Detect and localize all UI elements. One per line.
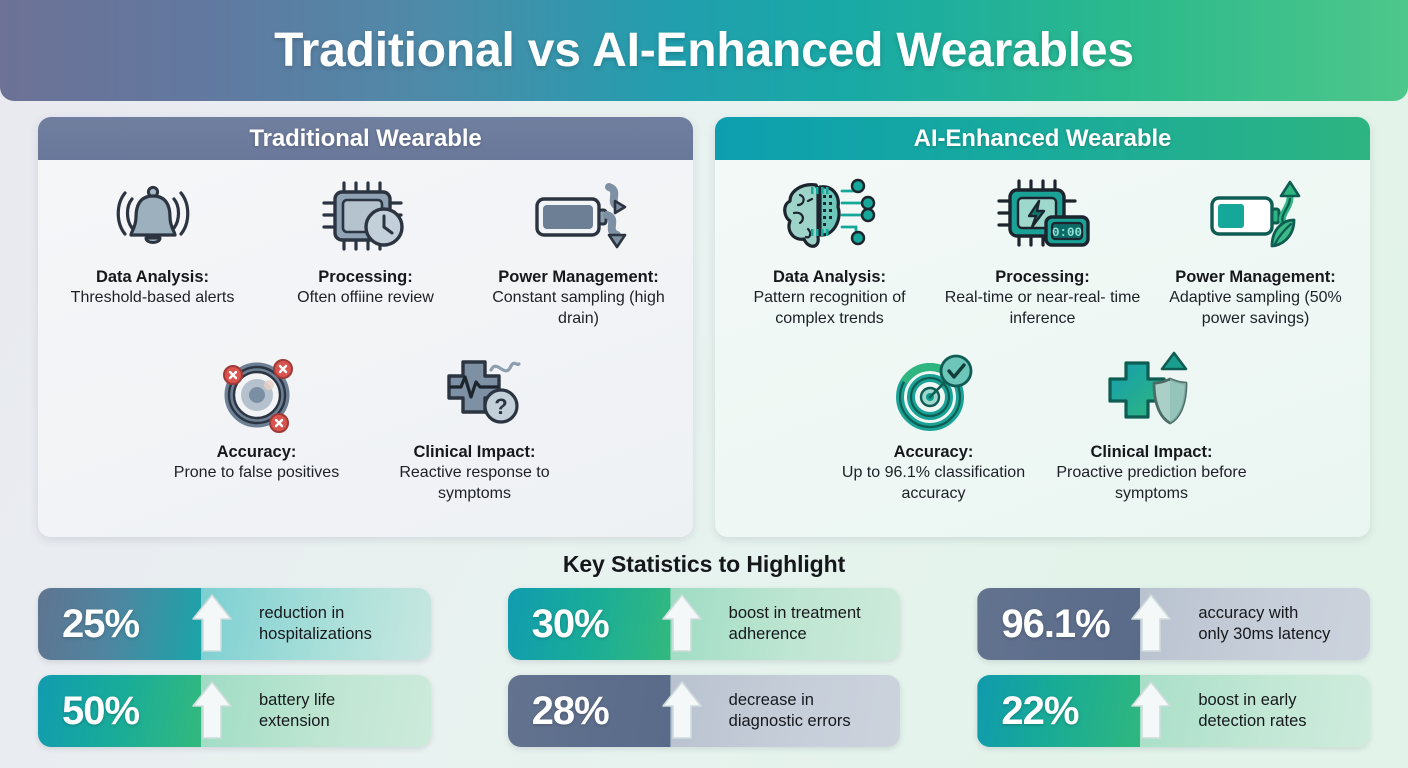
bell-alert-icon — [110, 174, 196, 260]
stat-value-container: 50% — [38, 675, 201, 747]
feature-processing-ai: 0:00 Processing: Real-time or near-real-… — [936, 174, 1149, 349]
stat-pill: 22% boost in early detection rates — [977, 675, 1370, 747]
panel-traditional: Traditional Wearable — [38, 117, 693, 537]
feature-clinical-traditional: ? Clinical Impact: Reactive response to … — [366, 349, 584, 527]
svg-text:0:00: 0:00 — [1051, 226, 1081, 240]
stat-value-container: 30% — [508, 588, 671, 660]
feature-clinical-ai: Clinical Impact: Proactive prediction be… — [1043, 349, 1261, 527]
feature-title: Accuracy: — [894, 442, 974, 462]
feature-title: Data Analysis: — [96, 267, 209, 287]
feature-power-traditional: Power Management: Constant sampling (hig… — [472, 174, 685, 349]
stat-label: battery life extension — [259, 690, 335, 731]
stat-label-container: accuracy with only 30ms latency — [1140, 588, 1370, 660]
chip-bolt-timer-icon: 0:00 — [993, 174, 1093, 260]
stat-label: accuracy with only 30ms latency — [1198, 603, 1330, 644]
feature-desc: Up to 96.1% classification accuracy — [829, 463, 1039, 503]
stat-value-container: 25% — [38, 588, 201, 660]
stat-pill: 25% reduction in hospitalizations — [38, 588, 431, 660]
feature-title: Data Analysis: — [773, 267, 886, 287]
feature-row: Data Analysis: Pattern recognition of co… — [723, 174, 1362, 349]
stat-label: decrease in diagnostic errors — [729, 690, 851, 731]
feature-row: Accuracy: Up to 96.1% classification acc… — [723, 349, 1362, 527]
feature-data-analysis-traditional: Data Analysis: Threshold-based alerts — [46, 174, 259, 349]
stat-value-container: 96.1% — [977, 588, 1140, 660]
stat-label-container: boost in treatment adherence — [671, 588, 901, 660]
panel-traditional-body: Data Analysis: Threshold-based alerts — [38, 160, 693, 537]
feature-title: Power Management: — [498, 267, 658, 287]
feature-accuracy-traditional: Accuracy: Prone to false positives — [148, 349, 366, 527]
feature-desc: Proactive prediction before symptoms — [1047, 463, 1257, 503]
brain-circuit-icon — [778, 174, 882, 260]
page-header: Traditional vs AI-Enhanced Wearables — [0, 0, 1408, 101]
panel-traditional-heading: Traditional Wearable — [38, 117, 693, 160]
feature-desc: Adaptive sampling (50% power savings) — [1153, 288, 1358, 328]
battery-drain-icon — [531, 174, 627, 260]
stat-value-container: 28% — [508, 675, 671, 747]
stat-label: boost in early detection rates — [1198, 690, 1306, 731]
feature-power-ai: Power Management: Adaptive sampling (50%… — [1149, 174, 1362, 349]
feature-desc: Reactive response to symptoms — [370, 463, 580, 503]
cross-shield-arrow-icon — [1104, 349, 1200, 435]
stat-label-container: battery life extension — [201, 675, 431, 747]
feature-processing-traditional: Processing: Often offiine review — [259, 174, 472, 349]
panel-ai-body: Data Analysis: Pattern recognition of co… — [715, 160, 1370, 537]
panel-ai-enhanced: AI-Enhanced Wearable — [715, 117, 1370, 537]
feature-title: Processing: — [995, 267, 1089, 287]
stat-value: 22% — [1001, 689, 1078, 734]
feature-desc: Prone to false positives — [174, 463, 339, 483]
feature-desc: Pattern recognition of complex trends — [727, 288, 932, 328]
chip-clock-icon — [320, 174, 412, 260]
feature-row: Accuracy: Prone to false positives ? — [46, 349, 685, 527]
feature-desc: Real-time or near-real- time inference — [940, 288, 1145, 328]
stat-value-container: 22% — [977, 675, 1140, 747]
feature-title: Processing: — [318, 267, 412, 287]
stat-value: 25% — [62, 602, 139, 647]
panel-ai-heading: AI-Enhanced Wearable — [715, 117, 1370, 160]
feature-title: Power Management: — [1175, 267, 1335, 287]
stat-pill: 28% decrease in diagnostic errors — [508, 675, 901, 747]
feature-row: Data Analysis: Threshold-based alerts — [46, 174, 685, 349]
svg-text:?: ? — [494, 394, 507, 419]
feature-data-analysis-ai: Data Analysis: Pattern recognition of co… — [723, 174, 936, 349]
stat-label: reduction in hospitalizations — [259, 603, 372, 644]
stats-section-title: Key Statistics to Highlight — [0, 551, 1408, 578]
stat-value: 50% — [62, 689, 139, 734]
feature-title: Accuracy: — [217, 442, 297, 462]
stat-label-container: decrease in diagnostic errors — [671, 675, 901, 747]
stat-label-container: boost in early detection rates — [1140, 675, 1370, 747]
feature-title: Clinical Impact: — [414, 442, 536, 462]
stat-value: 28% — [532, 689, 609, 734]
feature-title: Clinical Impact: — [1091, 442, 1213, 462]
battery-leaf-icon — [1206, 174, 1306, 260]
feature-desc: Often offiine review — [297, 288, 434, 308]
stat-value: 96.1% — [1001, 602, 1109, 647]
stat-pill: 50% battery life extension — [38, 675, 431, 747]
feature-desc: Constant sampling (high drain) — [476, 288, 681, 328]
feature-accuracy-ai: Accuracy: Up to 96.1% classification acc… — [825, 349, 1043, 527]
stat-label-container: reduction in hospitalizations — [201, 588, 431, 660]
cross-question-icon: ? — [427, 349, 523, 435]
comparison-panels: Traditional Wearable — [38, 117, 1370, 537]
stat-pill: 96.1% accuracy with only 30ms latency — [977, 588, 1370, 660]
target-check-icon — [888, 349, 980, 435]
target-errors-icon — [211, 349, 303, 435]
stat-value: 30% — [532, 602, 609, 647]
stat-pill: 30% boost in treatment adherence — [508, 588, 901, 660]
stat-label: boost in treatment adherence — [729, 603, 861, 644]
feature-desc: Threshold-based alerts — [71, 288, 235, 308]
stats-grid: 25% reduction in hospitalizations 30% bo… — [38, 588, 1370, 747]
page-title: Traditional vs AI-Enhanced Wearables — [274, 23, 1134, 78]
